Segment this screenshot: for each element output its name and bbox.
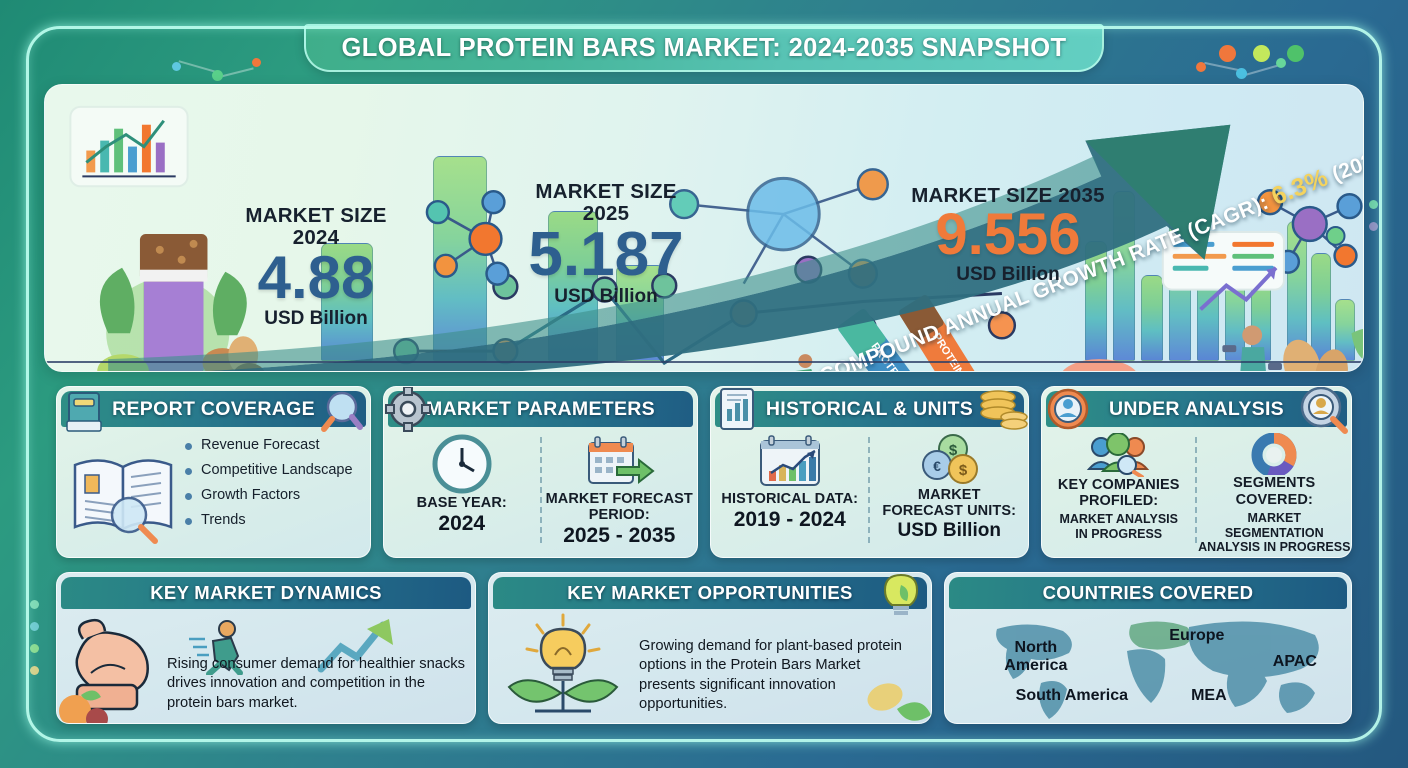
gear-icon <box>384 386 432 433</box>
coins-icon <box>972 386 1028 433</box>
forecast-period-value: 2025 - 2035 <box>563 524 675 548</box>
panel-countries-covered[interactable]: COUNTRIES COVERED North America Europe A… <box>944 572 1352 724</box>
region-label-south-america: South America <box>1007 687 1137 705</box>
donut-chart-icon <box>1248 433 1300 475</box>
dynamics-text: Rising consumer demand for healthier sna… <box>167 655 467 713</box>
side-dot <box>1369 222 1378 231</box>
list-item: Competitive Landscape <box>185 462 353 478</box>
panel-body: Growing demand for plant-based protein o… <box>489 609 931 721</box>
forecast-units-value: USD Billion <box>898 520 1001 542</box>
side-dot <box>30 622 39 631</box>
stat-market-size-2025: MARKET SIZE 2025 5.187 USD Billion <box>501 181 711 308</box>
hero-market-size-panel: PROTEIN PROTEIN COMPOUND ANNUAL GROWTH R… <box>44 84 1364 372</box>
panel-body: Rising consumer demand for healthier sna… <box>57 609 475 721</box>
base-year-value: 2024 <box>438 512 485 536</box>
list-item: Trends <box>185 512 353 528</box>
list-item: Growth Factors <box>185 487 353 503</box>
clock-icon <box>431 433 493 495</box>
forecast-period-label: MARKET FORECASTPERIOD: <box>546 491 693 523</box>
svg-text:€: € <box>933 458 941 474</box>
region-label-north-america: North America <box>989 639 1083 674</box>
historical-data-label: HISTORICAL DATA: <box>721 491 858 507</box>
panel-key-market-opportunities[interactable]: KEY MARKET OPPORTUNITIES <box>488 572 932 724</box>
stat-2025-unit: USD Billion <box>501 286 711 308</box>
calendar-chart-icon <box>753 433 827 491</box>
stat-2025-label: MARKET SIZE <box>535 180 676 203</box>
card-body: BASE YEAR: 2024 MARKET FORECAST <box>384 427 697 555</box>
card-header: MARKET PARAMETERS <box>388 391 693 427</box>
bottom-panels-row: KEY MARKET DYNAMICS Rising consumer dema… <box>56 572 1352 724</box>
panel-title: KEY MARKET DYNAMICS <box>150 582 382 604</box>
side-dots-left <box>30 600 39 675</box>
segments-covered-label: SEGMENTSCOVERED: <box>1233 475 1315 507</box>
stat-market-size-2024: MARKET SIZE 2024 4.88 USD Billion <box>221 205 411 330</box>
card-report-coverage[interactable]: REPORT COVERAGE <box>56 386 371 558</box>
panel-key-market-dynamics[interactable]: KEY MARKET DYNAMICS Rising consumer dema… <box>56 572 476 724</box>
historical-data-block: HISTORICAL DATA: 2019 - 2024 <box>711 427 868 555</box>
base-year-block: BASE YEAR: 2024 <box>384 427 540 555</box>
report-icon <box>713 386 761 433</box>
card-under-analysis[interactable]: UNDER ANALYSIS <box>1041 386 1352 558</box>
card-body: HISTORICAL DATA: 2019 - 2024 $ € $ MARKE… <box>711 427 1028 555</box>
nut-leaf-decoration <box>863 679 932 724</box>
hero-baseline <box>45 361 1363 363</box>
info-cards-row: REPORT COVERAGE <box>56 386 1352 558</box>
card-title: MARKET PARAMETERS <box>426 398 655 421</box>
panel-body: North America Europe APAC South America … <box>945 609 1351 721</box>
panel-header: COUNTRIES COVERED <box>949 577 1347 609</box>
card-title: HISTORICAL & UNITS <box>766 398 973 421</box>
stat-2025-value: 5.187 <box>501 225 711 286</box>
coverage-bullet-list: Revenue Forecast Competitive Landscape G… <box>185 427 353 555</box>
card-body: Revenue Forecast Competitive Landscape G… <box>57 427 370 555</box>
list-item: Revenue Forecast <box>185 437 353 453</box>
lightbulb-plant-icon <box>501 611 631 717</box>
stat-2035-value: 9.556 <box>883 207 1133 264</box>
side-dots-right <box>1369 200 1378 231</box>
svg-text:$: $ <box>959 462 968 479</box>
key-companies-status: MARKET ANALYSISIN PROGRESS <box>1059 512 1178 542</box>
key-companies-block: KEY COMPANIESPROFILED: MARKET ANALYSISIN… <box>1042 427 1196 555</box>
card-historical-and-units[interactable]: HISTORICAL & UNITS <box>710 386 1029 558</box>
region-label-europe: Europe <box>1157 627 1237 645</box>
panel-title: COUNTRIES COVERED <box>1043 582 1254 604</box>
forecast-period-block: MARKET FORECASTPERIOD: 2025 - 2035 <box>542 427 698 555</box>
fruit-decoration <box>57 685 117 724</box>
stat-2035-unit: USD Billion <box>883 264 1133 286</box>
side-dot <box>30 666 39 675</box>
side-dot <box>1369 200 1378 209</box>
segments-covered-status: MARKET SEGMENTATIONANALYSIS IN PROGRESS <box>1197 511 1351 555</box>
region-label-mea: MEA <box>1179 687 1239 705</box>
card-body: KEY COMPANIESPROFILED: MARKET ANALYSISIN… <box>1042 427 1351 555</box>
open-book-icon <box>63 431 183 551</box>
forecast-units-label: MARKETFORECAST UNITS: <box>882 487 1016 519</box>
page-title-banner: GLOBAL PROTEIN BARS MARKET: 2024-2035 SN… <box>304 24 1104 72</box>
forecast-units-block: $ € $ MARKETFORECAST UNITS: USD Billion <box>870 427 1027 555</box>
key-companies-label: KEY COMPANIESPROFILED: <box>1058 477 1180 509</box>
base-year-label: BASE YEAR: <box>417 495 507 511</box>
page-title: GLOBAL PROTEIN BARS MARKET: 2024-2035 SN… <box>342 34 1067 63</box>
historical-data-value: 2019 - 2024 <box>734 508 846 532</box>
panel-title: KEY MARKET OPPORTUNITIES <box>567 582 852 604</box>
currency-coins-icon: $ € $ <box>915 433 983 487</box>
stat-market-size-2035: MARKET SIZE 2035 9.556 USD Billion <box>883 185 1133 286</box>
stat-2024-value: 4.88 <box>221 249 411 308</box>
people-group-icon <box>1083 433 1155 477</box>
card-title: UNDER ANALYSIS <box>1109 398 1284 421</box>
segments-covered-block: SEGMENTSCOVERED: MARKET SEGMENTATIONANAL… <box>1197 427 1351 555</box>
side-dot <box>30 600 39 609</box>
stat-2024-unit: USD Billion <box>221 308 411 330</box>
calendar-arrow-icon <box>583 433 655 491</box>
node-network-decoration-right <box>1190 48 1300 88</box>
panel-header: KEY MARKET DYNAMICS <box>61 577 471 609</box>
card-title: REPORT COVERAGE <box>112 398 315 421</box>
panel-header: KEY MARKET OPPORTUNITIES <box>493 577 927 609</box>
region-label-apac: APAC <box>1265 653 1325 671</box>
card-market-parameters[interactable]: MARKET PARAMETERS BASE YEAR: 2024 <box>383 386 698 558</box>
side-dot <box>30 644 39 653</box>
stat-2024-label: MARKET SIZE <box>245 204 386 227</box>
